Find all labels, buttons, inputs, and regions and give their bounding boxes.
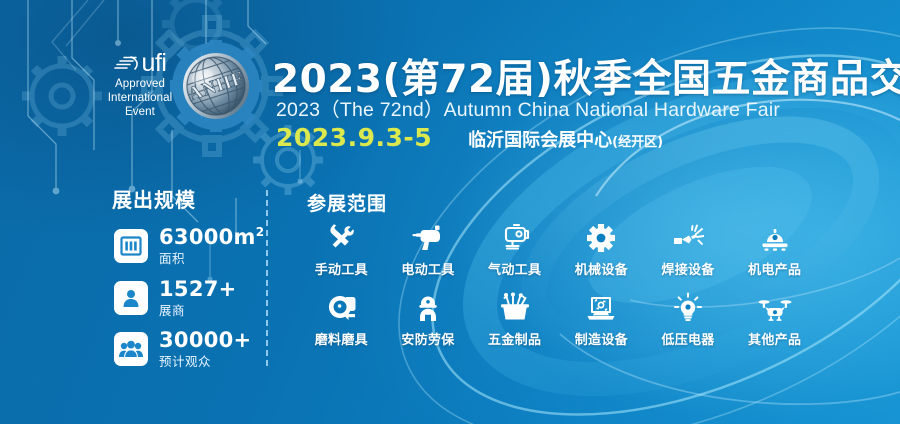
category-item: 电动工具 [385,222,472,278]
exhibition-hall-icon [114,229,148,263]
stat-value: 1527+ [159,279,237,300]
category-item: 机械设备 [558,222,645,278]
event-venue: 临沂国际会展中心(经开区) [468,126,663,152]
category-label: 电动工具 [401,259,454,278]
stat-label: 预计观众 [159,356,251,369]
stat-item: 1527+ 展商 [114,279,264,318]
visitors-group-icon [114,332,148,366]
scope-heading: 参展范围 [307,189,387,216]
hardware-fair-poster: ufi Approved International Event [0,0,900,424]
event-date: 2023.9.3-5 [276,123,432,152]
stat-item: 63000m2 面积 [114,226,264,266]
welding-equipment-icon [672,222,704,252]
section-divider [266,190,268,366]
category-label: 手动工具 [315,259,368,278]
category-item: 安防劳保 [385,292,472,348]
safety-helmet-icon [413,292,443,322]
gear-machinery-icon [587,222,615,252]
category-item: 气动工具 [471,222,558,278]
category-label: 制造设备 [575,329,628,348]
category-item: 手动工具 [298,222,385,278]
stat-label: 面积 [159,253,264,266]
stat-item: 30000+ 预计观众 [114,330,264,369]
scale-heading: 展出规模 [112,184,196,213]
scope-category-grid: 手动工具 电动工具 [298,222,818,348]
hand-tools-icon [326,222,356,252]
category-item: 五金制品 [471,292,558,348]
page-title-en: 2023（The 72nd）Autumn China National Hard… [276,93,780,122]
category-item: 焊接设备 [645,222,732,278]
manufacturing-cnc-icon [585,292,617,322]
abrasives-icon [326,292,356,322]
event-meta: 2023.9.3-5 临沂国际会展中心(经开区) [276,123,663,152]
fair-globe-emblem-icon: ANHF [170,40,262,132]
category-item: 制造设备 [558,292,645,348]
category-label: 其他产品 [748,329,801,348]
event-venue-name: 临沂国际会展中心 [468,130,612,151]
category-item: 机电产品 [731,222,818,278]
category-item: 其他产品 [731,292,818,348]
category-label: 磨料磨具 [315,329,368,348]
category-label: 低压电器 [661,329,714,348]
drone-icon [758,292,792,322]
category-label: 安防劳保 [401,329,454,348]
category-label: 机械设备 [575,259,628,278]
category-label: 气动工具 [488,259,541,278]
category-label: 五金制品 [488,329,541,348]
stat-label: 展商 [159,305,237,318]
stat-value: 30000+ [159,330,251,351]
category-item: 低压电器 [645,292,732,348]
event-venue-note: (经开区) [612,135,663,150]
ufi-wordmark: ufi [142,52,167,75]
ufi-swoosh-icon [114,55,140,72]
category-item: 磨料磨具 [298,292,385,348]
power-drill-icon [412,222,444,252]
scale-stats-list: 63000m2 面积 1527+ 展商 [114,226,264,369]
electromechanical-icon [760,222,790,252]
category-label: 焊接设备 [661,259,714,278]
pneumatic-tools-icon [500,222,530,252]
lightbulb-icon [673,292,703,322]
stat-value: 63000m2 [159,226,264,248]
category-label: 机电产品 [748,259,801,278]
stat-unit-superscript: 2 [256,225,265,239]
hardware-toolbox-icon [499,292,531,322]
exhibitor-person-icon [114,281,148,315]
